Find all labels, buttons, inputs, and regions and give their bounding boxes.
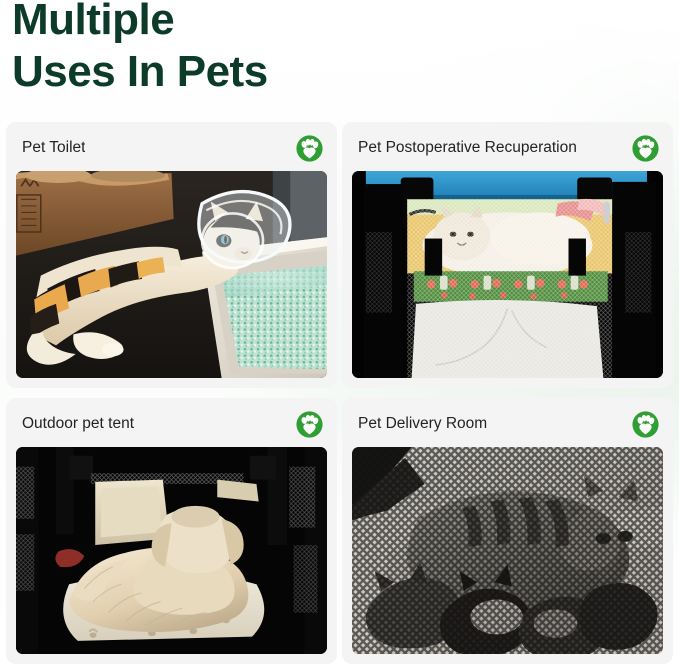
- paw-icon: [632, 411, 659, 438]
- page-title: Multiple Uses In Pets: [12, 0, 432, 98]
- card-title: Pet Toilet: [22, 138, 85, 158]
- paw-icon: [632, 135, 659, 162]
- card-image-pet-toilet: [16, 171, 327, 378]
- page-title-line-1: Multiple: [12, 0, 432, 46]
- pet-uses-page: Multiple Uses In Pets Pet Toilet: [0, 0, 679, 664]
- card-image-outdoor-pet-tent: [16, 447, 327, 654]
- paw-icon: [296, 411, 323, 438]
- card-title: Pet Delivery Room: [358, 414, 487, 434]
- page-title-line-2: Uses In Pets: [12, 46, 432, 98]
- card-header: Outdoor pet tent: [16, 407, 327, 441]
- use-case-card-pet-toilet[interactable]: Pet Toilet: [6, 122, 337, 388]
- card-image-pet-delivery-room: [352, 447, 663, 654]
- card-header: Pet Toilet: [16, 131, 327, 165]
- use-case-card-pet-postoperative-recuperation[interactable]: Pet Postoperative Recuperation: [342, 122, 673, 388]
- use-case-grid: Pet Toilet: [6, 122, 673, 664]
- card-header: Pet Delivery Room: [352, 407, 663, 441]
- card-title: Pet Postoperative Recuperation: [358, 138, 577, 158]
- card-header: Pet Postoperative Recuperation: [352, 131, 663, 165]
- card-title: Outdoor pet tent: [22, 414, 134, 434]
- paw-icon: [296, 135, 323, 162]
- card-image-pet-postoperative-recuperation: [352, 171, 663, 378]
- use-case-card-outdoor-pet-tent[interactable]: Outdoor pet tent: [6, 398, 337, 664]
- use-case-card-pet-delivery-room[interactable]: Pet Delivery Room: [342, 398, 673, 664]
